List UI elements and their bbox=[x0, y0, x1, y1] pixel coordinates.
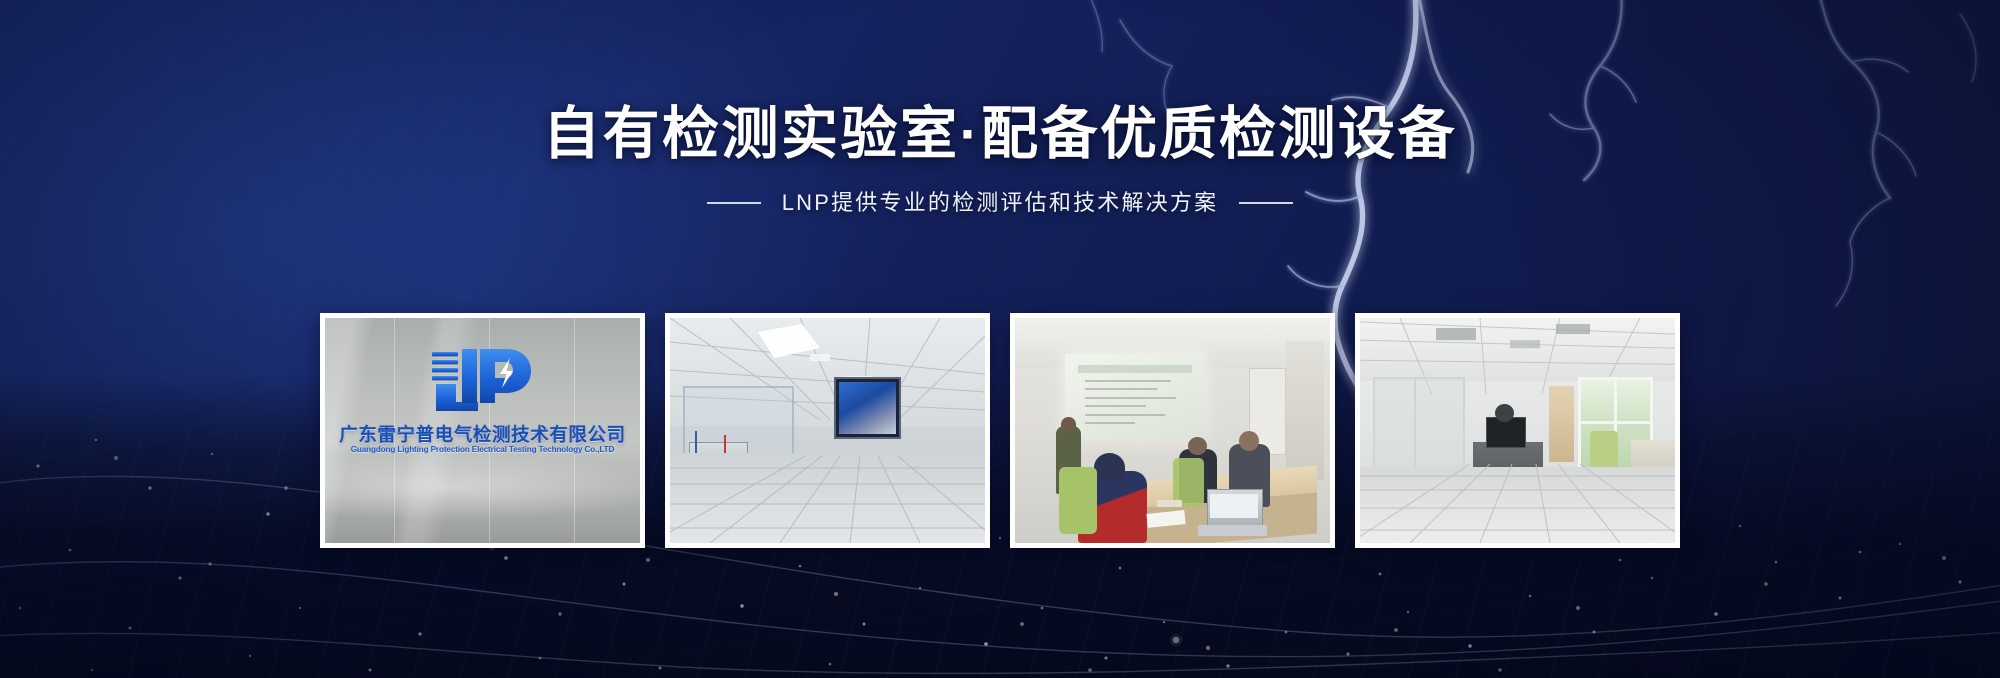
projection-screen bbox=[1065, 354, 1204, 440]
page-title: 自有检测实验室·配备优质检测设备 bbox=[0, 106, 2000, 163]
page-subtitle: LNP提供专业的检测评估和技术解决方案 bbox=[782, 192, 1219, 214]
rule-right-icon bbox=[1239, 202, 1293, 204]
photo-testing-laboratory[interactable] bbox=[665, 313, 990, 548]
photo-company-signage[interactable]: 广东雷宁普电气检测技术有限公司 Guangdong Lighting Prote… bbox=[320, 313, 645, 548]
photo-office-corridor[interactable] bbox=[1355, 313, 1680, 548]
hero-banner: 自有检测实验室·配备优质检测设备 LNP提供专业的检测评估和技术解决方案 bbox=[0, 0, 2000, 678]
rule-left-icon bbox=[707, 202, 761, 204]
headline-block: 自有检测实验室·配备优质检测设备 LNP提供专业的检测评估和技术解决方案 bbox=[0, 106, 2000, 214]
subtitle-row: LNP提供专业的检测评估和技术解决方案 bbox=[0, 192, 2000, 214]
glass-glare bbox=[325, 449, 640, 526]
chair-green bbox=[1059, 467, 1097, 535]
glass-partition bbox=[1373, 377, 1465, 476]
monitor bbox=[1486, 417, 1526, 448]
photo-strip: 广东雷宁普电气检测技术有限公司 Guangdong Lighting Prote… bbox=[0, 313, 2000, 548]
signage-chinese-text: 广东雷宁普电气检测技术有限公司 bbox=[325, 421, 640, 447]
photo-meeting-room[interactable] bbox=[1010, 313, 1335, 548]
lnp-logo-icon bbox=[418, 344, 548, 412]
